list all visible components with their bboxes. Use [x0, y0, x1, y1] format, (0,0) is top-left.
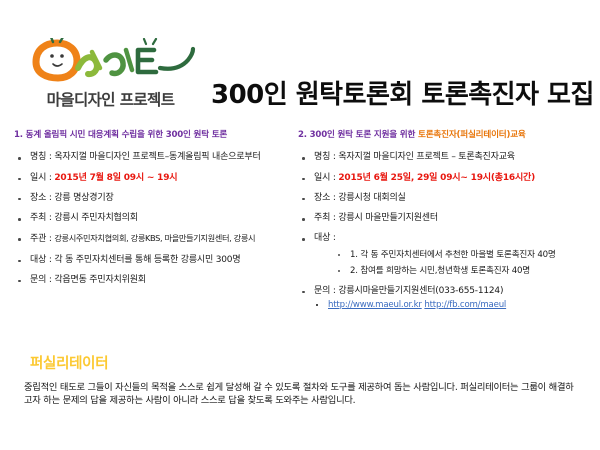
list-item: 일시 : 2015년 6월 25일, 29일 09시~ 19시(총16시간) [298, 173, 580, 184]
item-label: 명칭 : [30, 152, 52, 162]
item-value: 강릉시주민자치협의회, 강릉KBS, 마을만들기지원센터, 강릉시 [54, 233, 255, 243]
list-item: 장소 : 강릉 명상경기장 [14, 193, 290, 204]
item-value: 2015년 7월 8일 09시 ~ 19시 [54, 173, 177, 183]
contact-value: 강릉시마을만들기지원센터(033-655-1124) [338, 286, 503, 296]
facilitator-description: 중립적인 태도로 그들이 자신들의 목적을 스스로 쉽게 달성해 갈 수 있도록… [24, 381, 580, 408]
link-line: http://www.maeul.or.kr http://fb.com/mae… [314, 300, 580, 311]
item-value: 강릉시청 대회의실 [338, 193, 405, 203]
list-item: 주최 : 강릉시 마을만들기지원센터 [298, 213, 580, 224]
item-label: 장소 : [30, 193, 52, 203]
right-heading-accent: 토론촉진자(퍼실리테이터)교육 [418, 130, 526, 140]
content-columns: 1. 동계 올림픽 시민 대응계획 수립을 위한 300인 원탁 토론 명칭 :… [0, 130, 600, 320]
item-label: 주최 : [30, 213, 52, 223]
item-label: 대상 : [30, 255, 52, 265]
list-item: 대상 : 각 동 주민자치센터를 통해 등록한 강릉시민 300명 [14, 255, 290, 266]
right-detail-list: 명칭 : 옥자지껄 마을디자인 프로젝트 – 토론촉진자교육 일시 : 2015… [298, 152, 580, 311]
item-value: 강릉시 마을만들기지원센터 [338, 213, 438, 223]
item-label: 문의 : [30, 275, 52, 285]
item-value: 옥자지껄 마을디자인 프로젝트 – 토론촉진자교육 [338, 152, 515, 162]
item-label: 명칭 : [314, 152, 336, 162]
item-label: 주관 : [30, 234, 52, 244]
item-value: 2015년 6월 25일, 29일 09시~ 19시(총16시간) [338, 173, 535, 183]
item-label: 주최 : [314, 213, 336, 223]
slide-root: 마을디자인 프로젝트 300인 원탁토론회 토론촉진자 모집 1. 동계 올림픽… [0, 0, 600, 450]
item-value: 강릉 명상경기장 [54, 193, 113, 203]
right-column: 2. 300인 원탁 토론 지원을 위한 토론촉진자(퍼실리테이터)교육 명칭 … [290, 130, 580, 320]
item-value: 각 동 주민자치센터를 통해 등록한 강릉시민 300명 [54, 255, 240, 265]
sub-list-item: 2. 참여를 희망하는 시민,청년학생 토론촉진자 40명 [336, 266, 580, 277]
item-value: 각읍면동 주민자치위원회 [54, 275, 146, 285]
list-item: 명칭 : 옥자지껄 마을디자인 프로젝트 – 토론촉진자교육 [298, 152, 580, 163]
list-item-contact: 문의 : 강릉시마을만들기지원센터(033-655-1124) http://w… [298, 286, 580, 312]
item-label: 일시 : [30, 173, 52, 183]
list-item: 명칭 : 옥자지껄 마을디자인 프로젝트–동계올림픽 내손으로부터 [14, 152, 290, 163]
left-column: 1. 동계 올림픽 시민 대응계획 수립을 위한 300인 원탁 토론 명칭 :… [0, 130, 290, 320]
left-section-heading: 1. 동계 올림픽 시민 대응계획 수립을 위한 300인 원탁 토론 [14, 130, 290, 140]
list-item: 주관 : 강릉시주민자치협의회, 강릉KBS, 마을만들기지원센터, 강릉시 [14, 233, 290, 245]
item-label: 장소 : [314, 193, 336, 203]
item-value: 강릉시 주민자치협의회 [54, 213, 137, 223]
facilitator-heading: 퍼실리테이터 [30, 352, 108, 373]
item-value: 옥자지껄 마을디자인 프로젝트–동계올림픽 내손으로부터 [54, 152, 260, 162]
contact-label: 문의 : [314, 286, 336, 296]
left-detail-list: 명칭 : 옥자지껄 마을디자인 프로젝트–동계올림픽 내손으로부터 일시 : 2… [14, 152, 290, 286]
sub-list-item: 1. 각 동 주민자치센터에서 추천한 마을별 토론촉진자 40명 [336, 250, 580, 261]
right-heading-main: 2. 300인 원탁 토론 지원을 위한 [298, 130, 418, 140]
page-title: 300인 원탁토론회 토론촉진자 모집 [211, 82, 594, 108]
website-link[interactable]: http://www.maeul.or.kr [328, 300, 422, 310]
target-label: 대상 : [314, 233, 336, 243]
list-item: 주최 : 강릉시 주민자치협의회 [14, 213, 290, 224]
target-sublist: 1. 각 동 주민자치센터에서 추천한 마을별 토론촉진자 40명 2. 참여를… [314, 250, 580, 277]
item-label: 일시 : [314, 173, 336, 183]
header: 마을디자인 프로젝트 300인 원탁토론회 토론촉진자 모집 [0, 30, 600, 110]
logo-block: 마을디자인 프로젝트 [18, 38, 203, 110]
list-item: 문의 : 각읍면동 주민자치위원회 [14, 275, 290, 286]
list-item-target: 대상 : 1. 각 동 주민자치센터에서 추천한 마을별 토론촉진자 40명 2… [298, 233, 580, 277]
logo-caption: 마을디자인 프로젝트 [18, 88, 203, 110]
list-item: 장소 : 강릉시청 대회의실 [298, 193, 580, 204]
right-section-heading: 2. 300인 원탁 토론 지원을 위한 토론촉진자(퍼실리테이터)교육 [298, 130, 580, 140]
village-design-mascot-logo-icon [26, 38, 201, 88]
list-item: 일시 : 2015년 7월 8일 09시 ~ 19시 [14, 173, 290, 184]
facebook-link[interactable]: http://fb.com/maeul [424, 300, 506, 310]
